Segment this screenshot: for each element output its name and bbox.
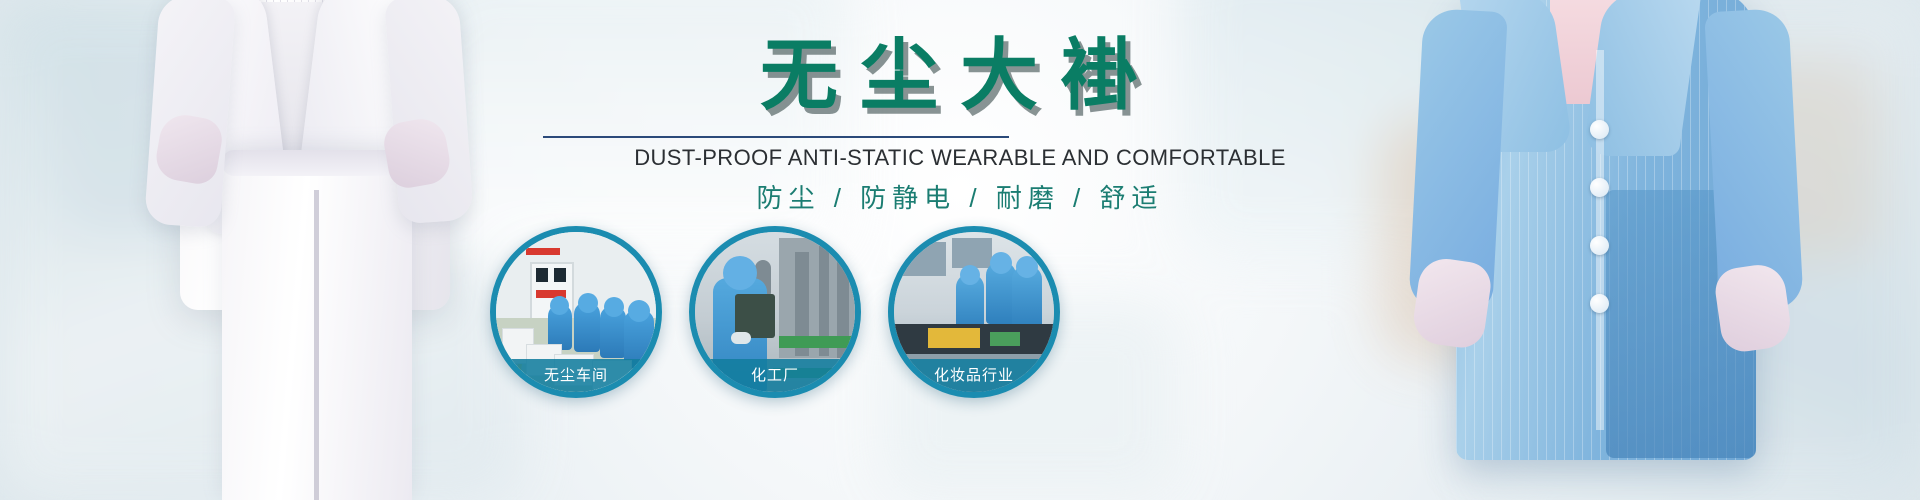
photo-worker-hood (960, 265, 980, 285)
photo-equipment-part (990, 332, 1020, 346)
scene-badge-cosmetics-industry[interactable]: 化妆品行业 (888, 226, 1060, 398)
photo-detail (554, 268, 566, 282)
photo-worker-hood (990, 252, 1012, 274)
product-banner: 无尘大褂 DUST-PROOF ANTI-STATIC WEARABLE AND… (0, 0, 1920, 500)
photo-monitor (952, 238, 992, 268)
scene-badge-caption: 化妆品行业 (894, 359, 1054, 392)
photo-worker-hood (723, 256, 757, 290)
scene-badge-list: 无尘车间 化工厂 (490, 226, 1060, 386)
photo-monitor (900, 242, 946, 276)
banner-subtitle-chinese: 防尘 / 防静电 / 耐磨 / 舒适 (0, 178, 1920, 215)
scene-badge-caption: 无尘车间 (496, 359, 656, 392)
photo-detail (526, 248, 560, 255)
title-divider (543, 136, 1009, 138)
banner-subtitle-english: DUST-PROOF ANTI-STATIC WEARABLE AND COMF… (0, 145, 1920, 171)
photo-glove (731, 332, 751, 344)
scene-badge-caption: 化工厂 (695, 359, 855, 392)
scene-badge-chemical-plant[interactable]: 化工厂 (689, 226, 861, 398)
photo-worker-hood (578, 293, 598, 313)
photo-worker-hood (1016, 256, 1038, 278)
scene-badge-cleanroom-workshop[interactable]: 无尘车间 (490, 226, 662, 398)
banner-title: 无尘大褂 (0, 36, 1920, 114)
photo-machine-band (779, 336, 855, 348)
photo-detail (536, 268, 548, 282)
photo-worker-hood (550, 296, 569, 315)
photo-worker-hood (604, 297, 624, 317)
photo-equipment-part (928, 328, 980, 348)
photo-worker-hood (628, 300, 650, 322)
